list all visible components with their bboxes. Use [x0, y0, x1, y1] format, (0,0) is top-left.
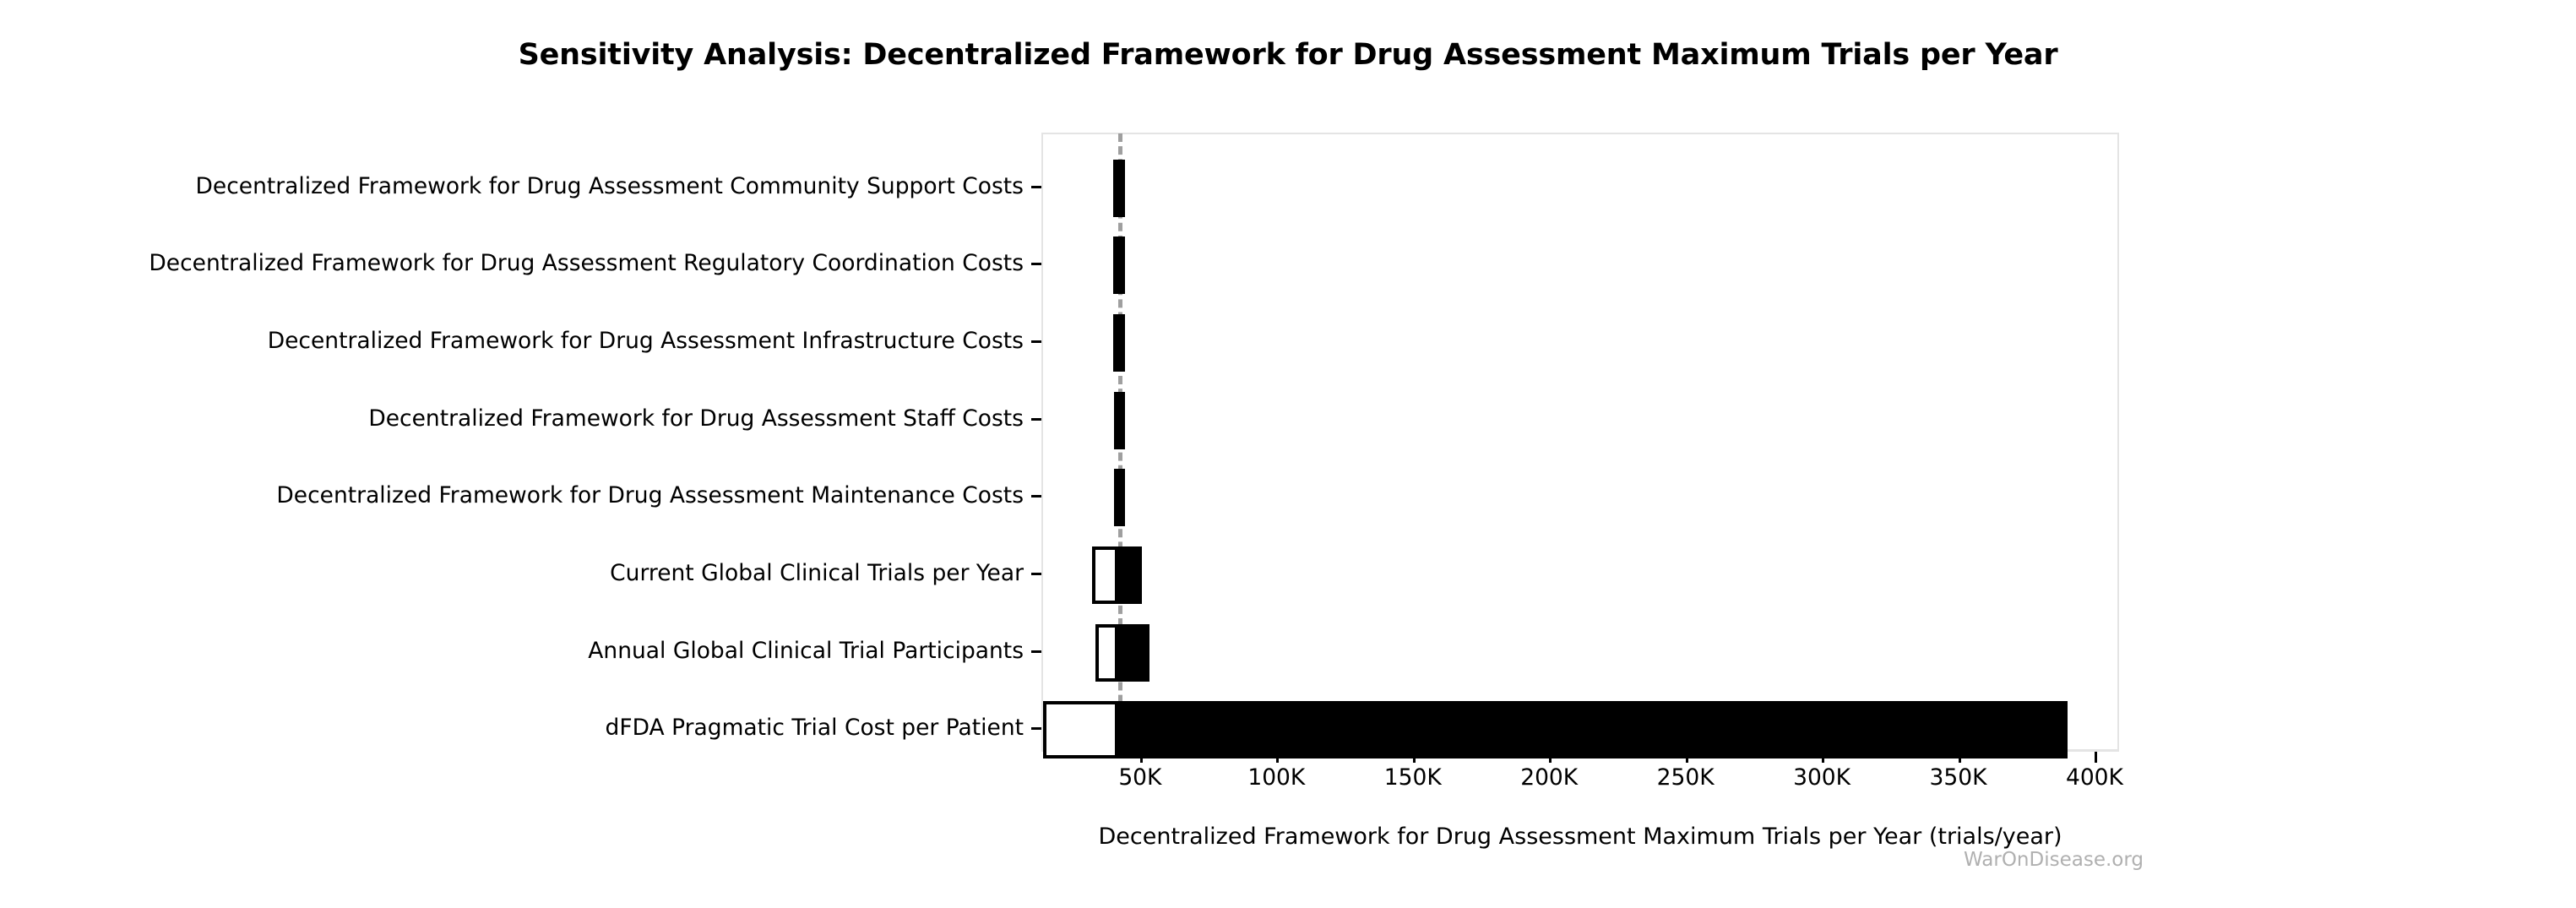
tornado-bar-high-segment[interactable]	[1118, 237, 1125, 294]
x-axis-title: Decentralized Framework for Drug Assessm…	[1041, 824, 2119, 850]
y-axis-tick	[1031, 727, 1041, 730]
x-axis-tick-label: 300K	[1793, 767, 1850, 790]
x-axis-tick-label: 200K	[1520, 767, 1578, 790]
y-axis-tick	[1031, 340, 1041, 343]
x-axis-tick-label: 150K	[1384, 767, 1442, 790]
y-axis-tick	[1031, 186, 1041, 188]
tornado-bar-high-segment[interactable]	[1118, 392, 1125, 449]
tornado-bar-row[interactable]	[1043, 624, 2117, 682]
x-axis-tick-label: 100K	[1247, 767, 1305, 790]
y-axis-tick-label: Current Global Clinical Trials per Year	[610, 563, 1024, 585]
tornado-bar-high-segment[interactable]	[1118, 624, 1149, 682]
x-axis-tick	[1549, 752, 1552, 763]
tornado-bar-row[interactable]	[1043, 237, 2117, 294]
x-axis-tick	[1959, 752, 1961, 763]
x-axis-tick-label: 400K	[2066, 767, 2123, 790]
tornado-bar-high-segment[interactable]	[1118, 546, 1142, 604]
tornado-bar-row[interactable]	[1043, 469, 2117, 526]
tornado-bar-row[interactable]	[1043, 701, 2117, 758]
tornado-bar-low-segment[interactable]	[1095, 624, 1118, 682]
x-axis-tick-label: 350K	[1930, 767, 1987, 790]
plot-area	[1041, 133, 2119, 752]
x-axis-tick	[1822, 752, 1824, 763]
x-axis-tick	[2095, 752, 2097, 763]
y-axis-tick-label: dFDA Pragmatic Trial Cost per Patient	[606, 717, 1024, 740]
y-axis-tick	[1031, 650, 1041, 653]
y-axis-tick-label: Decentralized Framework for Drug Assessm…	[149, 253, 1024, 275]
tornado-bar-high-segment[interactable]	[1118, 701, 2068, 758]
y-axis-tick-label: Annual Global Clinical Trial Participant…	[588, 640, 1024, 663]
y-axis-tick	[1031, 263, 1041, 265]
tornado-bar-low-segment[interactable]	[1092, 546, 1118, 604]
tornado-bar-high-segment[interactable]	[1118, 469, 1125, 526]
tornado-bar-low-segment[interactable]	[1043, 701, 1118, 758]
y-axis-tick-label: Decentralized Framework for Drug Assessm…	[268, 330, 1024, 353]
y-axis-tick	[1031, 573, 1041, 575]
y-axis-tick-label: Decentralized Framework for Drug Assessm…	[276, 485, 1024, 508]
tornado-bar-row[interactable]	[1043, 314, 2117, 372]
x-axis-tick	[1686, 752, 1688, 763]
tornado-bar-row[interactable]	[1043, 160, 2117, 217]
tornado-bar-row[interactable]	[1043, 392, 2117, 449]
tornado-bar-high-segment[interactable]	[1118, 160, 1125, 217]
y-axis-tick-label: Decentralized Framework for Drug Assessm…	[368, 408, 1024, 431]
y-axis-tick-label: Decentralized Framework for Drug Assessm…	[196, 176, 1024, 198]
x-axis-tick	[1413, 752, 1416, 763]
chart-title: Sensitivity Analysis: Decentralized Fram…	[0, 39, 2576, 72]
x-axis-tick-label: 250K	[1657, 767, 1715, 790]
y-axis-tick	[1031, 418, 1041, 421]
tornado-bar-high-segment[interactable]	[1118, 314, 1125, 372]
y-axis-tick	[1031, 495, 1041, 497]
sensitivity-tornado-figure: Sensitivity Analysis: Decentralized Fram…	[0, 0, 2576, 908]
watermark: WarOnDisease.org	[1964, 849, 2144, 871]
x-axis-tick	[1140, 752, 1143, 763]
x-axis-tick-label: 50K	[1118, 767, 1161, 790]
tornado-bar-row[interactable]	[1043, 546, 2117, 604]
x-axis-tick	[1276, 752, 1279, 763]
